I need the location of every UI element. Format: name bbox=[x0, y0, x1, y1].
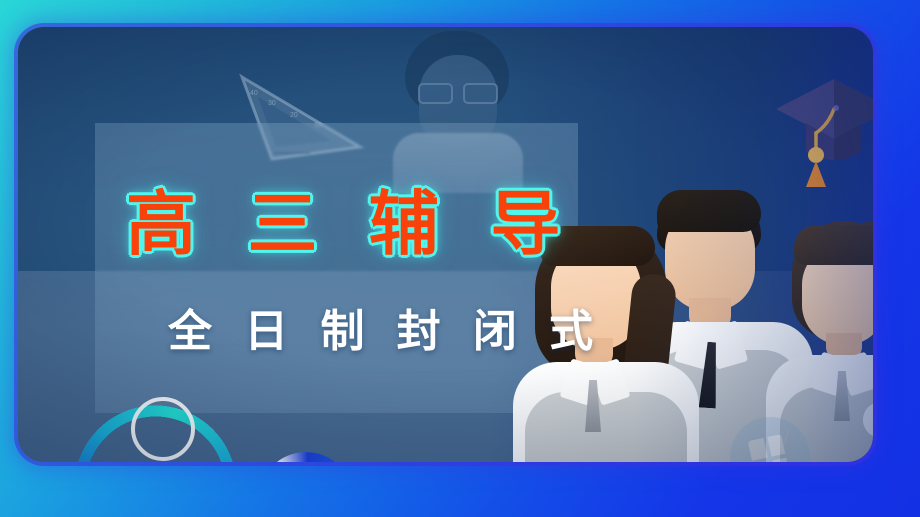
page-title: 高 三 辅 导 bbox=[126, 189, 596, 259]
banner-card: 40 30 20 10 bbox=[18, 27, 873, 462]
promo-banner: 40 30 20 10 bbox=[0, 0, 920, 517]
page-subtitle: 全 日 制 封 闭 式 bbox=[168, 310, 598, 354]
